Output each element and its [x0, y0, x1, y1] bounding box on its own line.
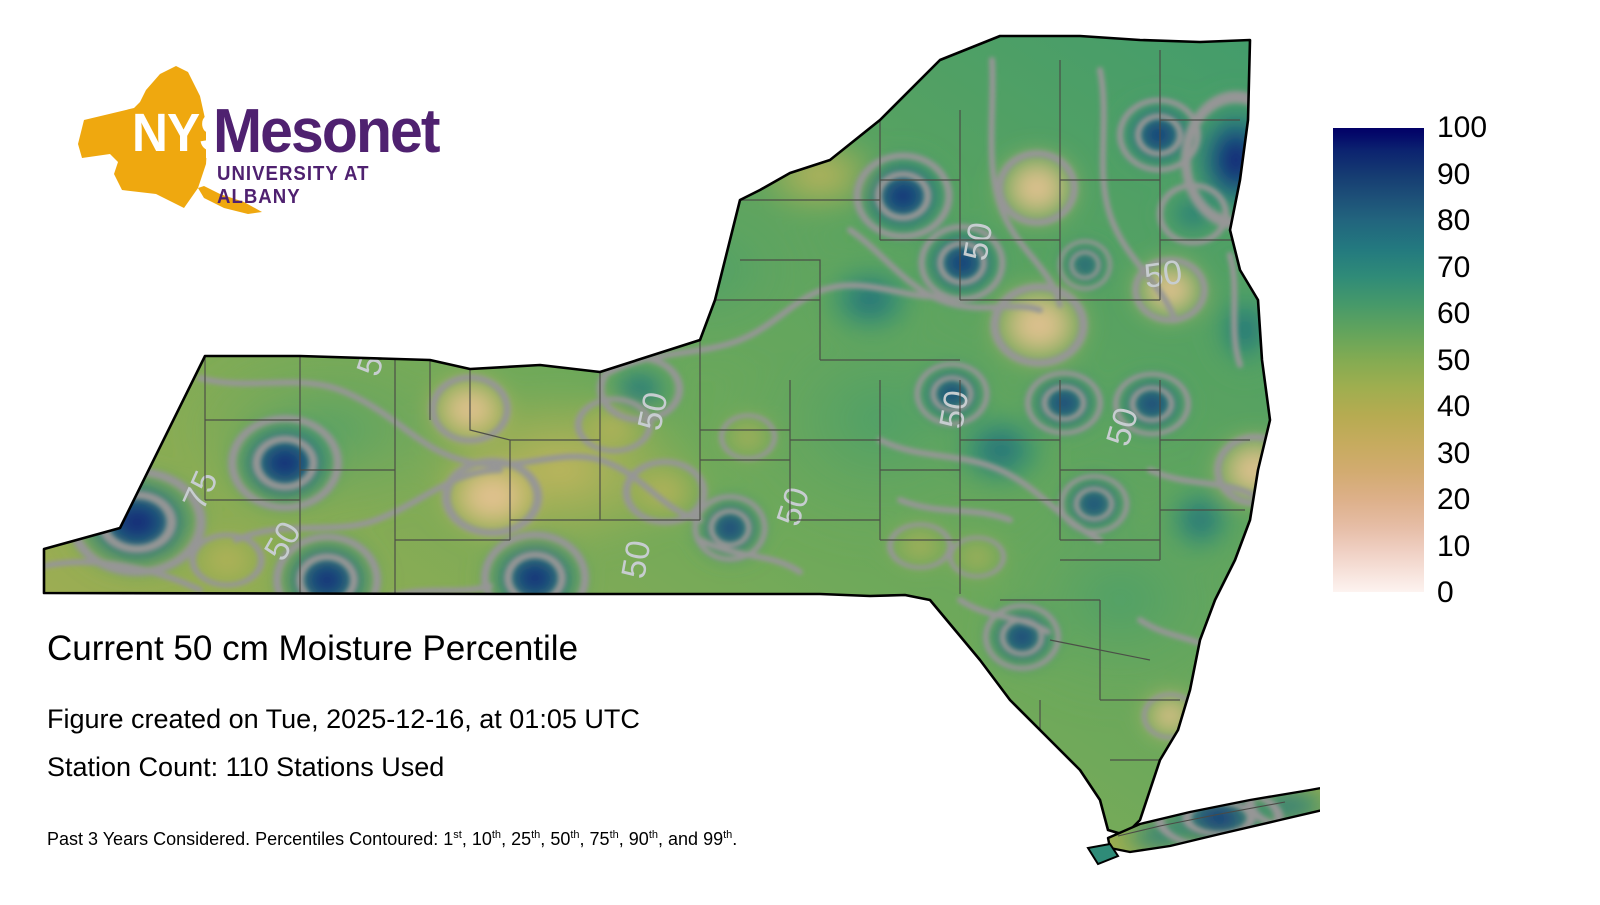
colorbar-tick-100: 100 [1437, 113, 1499, 143]
footnote: Past 3 Years Considered. Percentiles Con… [47, 827, 737, 851]
contour-label: 50 [1142, 253, 1185, 296]
colorbar-tick-90: 90 [1437, 160, 1499, 190]
contour-label: 50 [614, 538, 658, 582]
ordinal-suffix: th [570, 829, 579, 841]
ordinal-suffix: th [492, 829, 501, 841]
colorbar-tick-80: 80 [1437, 206, 1499, 236]
colorbar-tick-70: 70 [1437, 253, 1499, 283]
ordinal-suffix: th [723, 829, 732, 841]
ordinal-suffix: th [649, 829, 658, 841]
ordinal-suffix: th [610, 829, 619, 841]
colorbar-tick-20: 20 [1437, 485, 1499, 515]
nys-mesonet-logo: NYS Mesonet UNIVERSITY AT ALBANY [48, 62, 398, 217]
colorbar [1333, 128, 1424, 592]
logo-subtitle-text: UNIVERSITY AT ALBANY [217, 163, 385, 209]
logo-mesonet-text: Mesonet [213, 96, 439, 167]
contour-label: 50 [956, 220, 1000, 264]
colorbar-tick-30: 30 [1437, 439, 1499, 469]
colorbar-tick-50: 50 [1437, 346, 1499, 376]
colorbar-tick-0: 0 [1437, 578, 1499, 608]
contour-label: 50 [932, 388, 976, 432]
created-timestamp: Figure created on Tue, 2025-12-16, at 01… [47, 702, 640, 736]
colorbar-tick-40: 40 [1437, 392, 1499, 422]
ordinal-suffix: th [531, 829, 540, 841]
figure-canvas: 75 50 50 50 50 50 50 50 50 50 [0, 0, 1600, 900]
colorbar-tick-10: 10 [1437, 532, 1499, 562]
colorbar-gradient [1333, 128, 1424, 592]
colorbar-tick-60: 60 [1437, 299, 1499, 329]
page-title: Current 50 cm Moisture Percentile [47, 628, 578, 670]
contour-label: 50 [631, 389, 676, 434]
ordinal-suffix: st [453, 829, 462, 841]
station-count: Station Count: 110 Stations Used [47, 750, 444, 784]
